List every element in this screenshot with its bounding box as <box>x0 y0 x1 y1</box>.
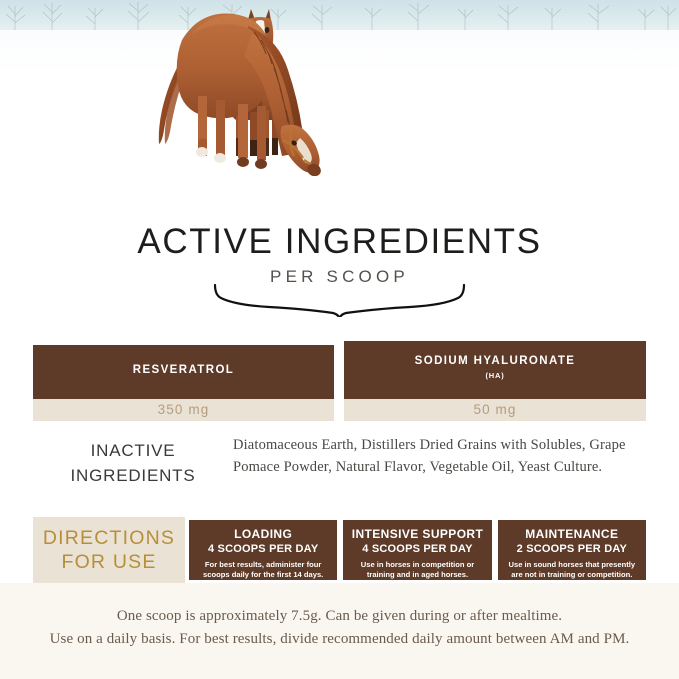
decorative-brace-icon <box>213 283 466 317</box>
active-ingredient-abbreviation: (HA) <box>344 371 646 381</box>
active-ingredient-card: RESVERATROL 350 mg <box>33 345 334 421</box>
section-title-block: ACTIVE INGREDIENTS PER SCOOP <box>0 222 679 287</box>
directions-card-note: Use in sound horses that presently are n… <box>498 560 646 579</box>
inactive-ingredients-section: INACTIVE INGREDIENTS Diatomaceous Earth,… <box>33 434 646 488</box>
directions-card-intensive-support: INTENSIVE SUPPORT 4 SCOOPS PER DAY Use i… <box>343 520 491 580</box>
active-ingredient-card: SODIUM HYALURONATE (HA) 50 mg <box>344 341 646 421</box>
active-ingredient-name: RESVERATROL <box>33 363 334 377</box>
directions-label: DIRECTIONS FOR USE <box>33 517 185 583</box>
footer-note: One scoop is approximately 7.5g. Can be … <box>0 583 679 651</box>
hero-image <box>0 0 679 176</box>
inactive-label-line-2: INGREDIENTS <box>33 463 233 488</box>
product-detail-page: ACTIVE INGREDIENTS PER SCOOP RESVERATROL… <box>0 0 679 679</box>
directions-label-line-1: DIRECTIONS <box>43 526 175 550</box>
directions-for-use-section: DIRECTIONS FOR USE LOADING 4 SCOOPS PER … <box>33 517 646 583</box>
active-ingredient-amount: 50 mg <box>344 399 646 421</box>
active-ingredient-name: SODIUM HYALURONATE <box>344 354 646 368</box>
inactive-ingredients-label: INACTIVE INGREDIENTS <box>33 434 233 488</box>
directions-card-dose: 4 SCOOPS PER DAY <box>189 542 337 556</box>
inactive-ingredients-text: Diatomaceous Earth, Distillers Dried Gra… <box>233 434 646 478</box>
active-ingredients-table: RESVERATROL 350 mg SODIUM HYALURONATE (H… <box>33 341 646 421</box>
directions-card-group: LOADING 4 SCOOPS PER DAY For best result… <box>185 517 646 583</box>
mare-figure <box>159 14 323 176</box>
active-ingredient-header: SODIUM HYALURONATE (HA) <box>344 341 646 399</box>
directions-card-dose: 2 SCOOPS PER DAY <box>498 542 646 556</box>
mare-and-foal-icon <box>120 0 410 176</box>
directions-card-loading: LOADING 4 SCOOPS PER DAY For best result… <box>189 520 337 580</box>
directions-card-note: Use in horses in competition or training… <box>343 560 491 579</box>
active-ingredient-header: RESVERATROL <box>33 345 334 399</box>
directions-card-note: For best results, administer four scoops… <box>189 560 337 579</box>
directions-card-title: LOADING <box>189 527 337 541</box>
directions-card-title: INTENSIVE SUPPORT <box>343 527 491 541</box>
directions-label-line-2: FOR USE <box>61 550 156 574</box>
footer-note-line-1: One scoop is approximately 7.5g. Can be … <box>0 605 679 628</box>
inactive-label-line-1: INACTIVE <box>33 438 233 463</box>
footer-note-line-2: Use on a daily basis. For best results, … <box>0 628 679 651</box>
directions-card-maintenance: MAINTENANCE 2 SCOOPS PER DAY Use in soun… <box>498 520 646 580</box>
page-title: ACTIVE INGREDIENTS <box>0 222 679 262</box>
directions-card-title: MAINTENANCE <box>498 527 646 541</box>
directions-card-dose: 4 SCOOPS PER DAY <box>343 542 491 556</box>
footer-note-section: One scoop is approximately 7.5g. Can be … <box>0 583 679 679</box>
active-ingredient-amount: 350 mg <box>33 399 334 421</box>
